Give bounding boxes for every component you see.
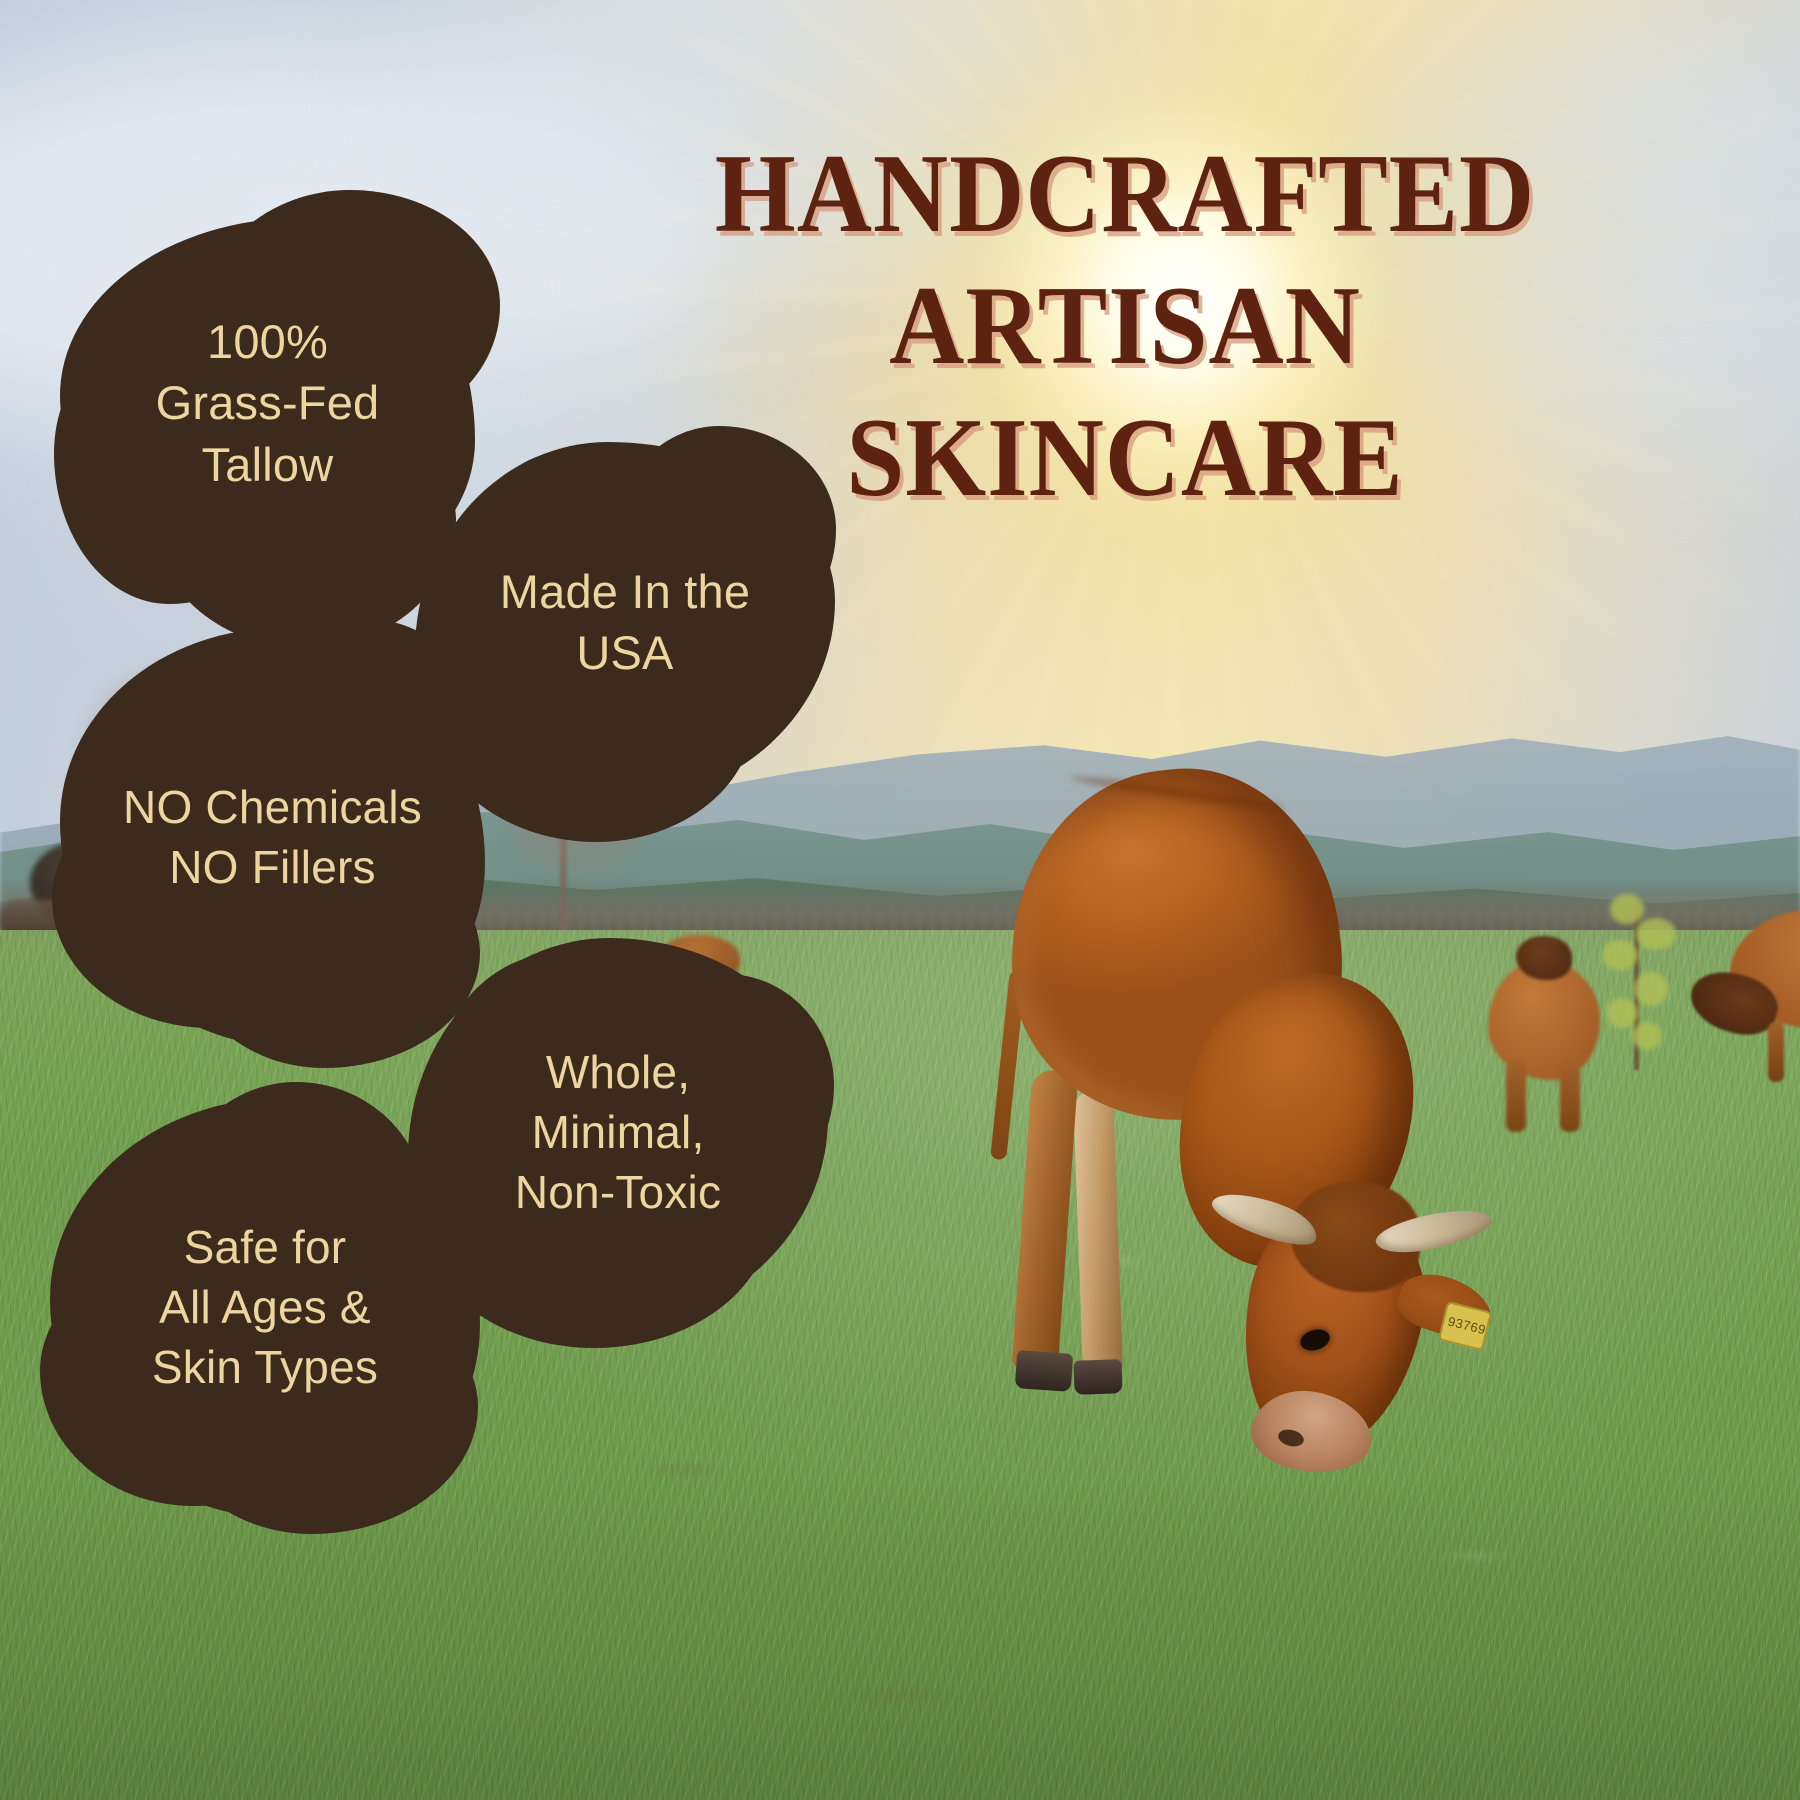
poster-canvas: 93769 HANDCRAFTED ARTISAN SKINCARE 100% … bbox=[0, 0, 1800, 1800]
badge-label: 100% Grass-Fed Tallow bbox=[156, 311, 380, 494]
badge-label: Made In the USA bbox=[500, 561, 750, 683]
main-grazing-cow: 93769 bbox=[1000, 770, 1540, 1470]
cow-leg-front bbox=[1012, 1069, 1079, 1371]
cow-hoof bbox=[1015, 1350, 1074, 1392]
badge-label: Whole, Minimal, Non-Toxic bbox=[515, 1043, 721, 1222]
cow-hoof bbox=[1073, 1359, 1122, 1395]
badge-label: Safe for All Ages & Skin Types bbox=[152, 1218, 378, 1397]
sapling-leaf bbox=[1606, 998, 1638, 1028]
cow-leg bbox=[1768, 1022, 1784, 1082]
sapling-leaf bbox=[1636, 918, 1676, 950]
sapling-leaf bbox=[1632, 1022, 1662, 1050]
badge-grass-fed-tallow: 100% Grass-Fed Tallow bbox=[60, 218, 475, 588]
cow-leg bbox=[1560, 1060, 1580, 1132]
background-cow-right bbox=[1690, 900, 1800, 1090]
badge-safe-for-all-ages: Safe for All Ages & Skin Types bbox=[50, 1098, 480, 1518]
badge-label: NO Chemicals NO Fillers bbox=[123, 778, 422, 898]
sapling-leaf bbox=[1634, 972, 1668, 1006]
sapling-leaf bbox=[1610, 894, 1644, 924]
cow-leg-rear bbox=[1073, 1089, 1123, 1375]
